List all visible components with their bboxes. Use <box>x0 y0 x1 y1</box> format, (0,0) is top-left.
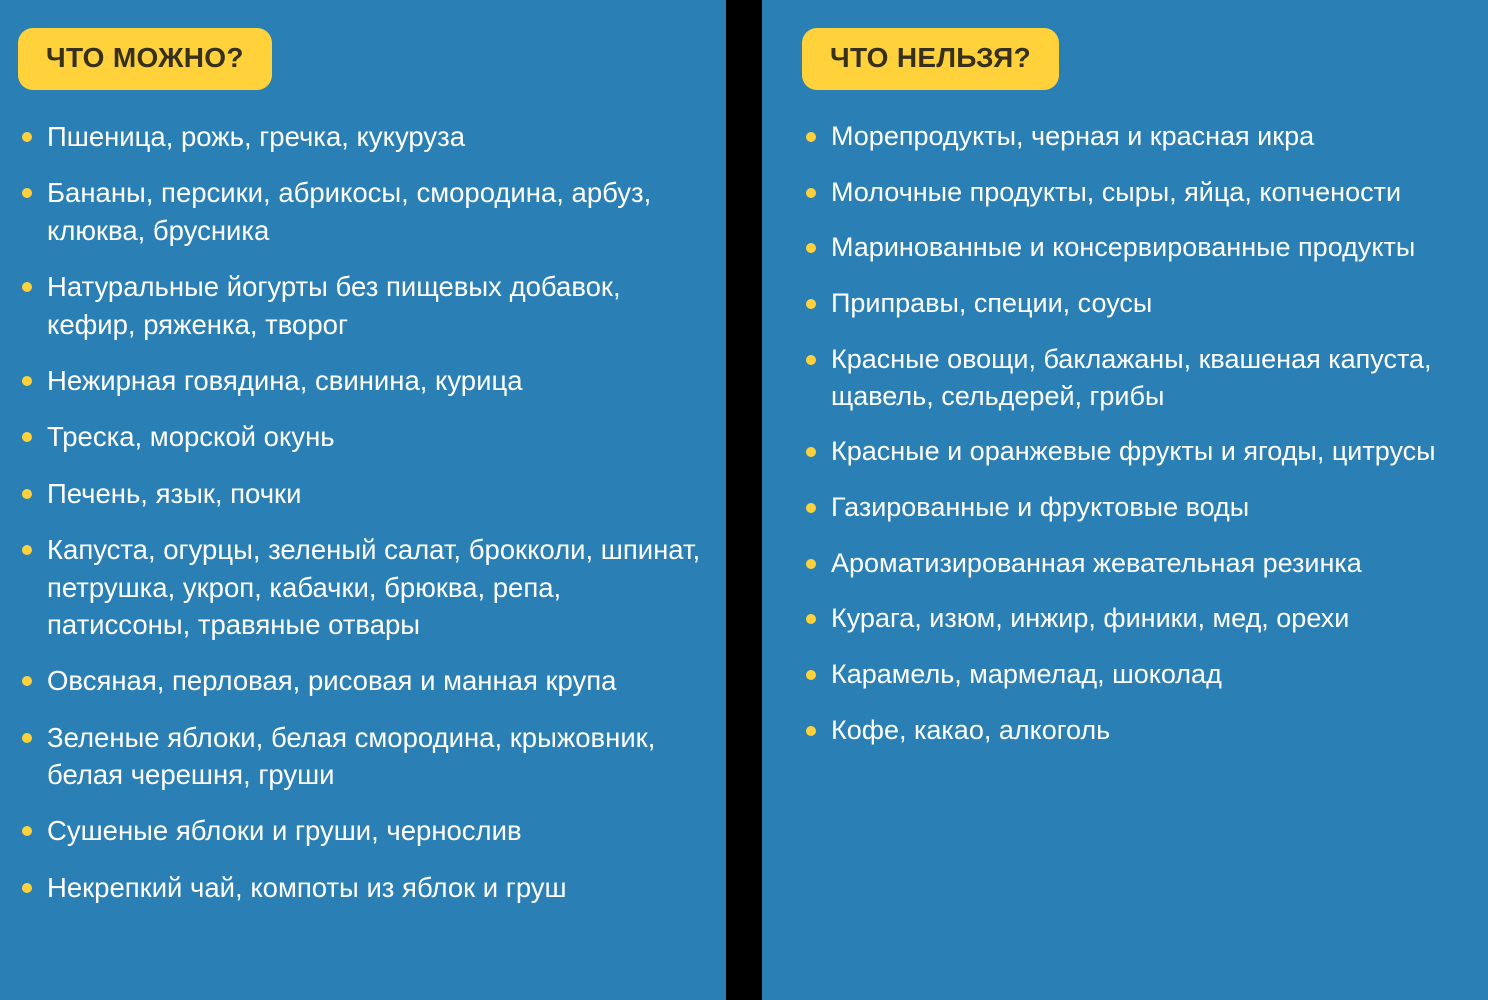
bullet-dot-icon <box>806 559 816 569</box>
forbidden-panel-inner: ЧТО НЕЛЬЗЯ? Морепродукты, черная и красн… <box>762 0 1488 1000</box>
forbidden-foods-panel: ЧТО НЕЛЬЗЯ? Морепродукты, черная и красн… <box>762 0 1488 1000</box>
list-item-label: Морепродукты, черная и красная икра <box>831 118 1470 155</box>
bullet-dot-icon <box>22 432 32 442</box>
list-item: Карамель, мармелад, шоколад <box>802 656 1470 693</box>
bullet-dot-icon <box>22 489 32 499</box>
list-item-label: Кофе, какао, алкоголь <box>831 712 1470 749</box>
list-item: Овсяная, перловая, рисовая и манная круп… <box>18 662 706 699</box>
list-item-label: Курага, изюм, инжир, финики, мед, орехи <box>831 600 1470 637</box>
bullet-dot-icon <box>806 243 816 253</box>
bullet-dot-icon <box>22 733 32 743</box>
list-item-label: Приправы, специи, соусы <box>831 285 1470 322</box>
bullet-dot-icon <box>806 355 816 365</box>
bullet-dot-icon <box>22 282 32 292</box>
list-item-label: Газированные и фруктовые воды <box>831 489 1470 526</box>
list-item: Печень, язык, почки <box>18 475 706 512</box>
list-item: Треска, морской окунь <box>18 418 706 455</box>
bullet-dot-icon <box>806 670 816 680</box>
bullet-dot-icon <box>806 299 816 309</box>
bullet-dot-icon <box>806 188 816 198</box>
list-item-label: Красные овощи, баклажаны, квашеная капус… <box>831 341 1470 414</box>
list-item-label: Зеленые яблоки, белая смородина, крыжовн… <box>47 719 706 794</box>
bullet-dot-icon <box>22 676 32 686</box>
allowed-foods-list: Пшеница, рожь, гречка, кукуруза Бананы, … <box>18 118 708 906</box>
allowed-section-badge: ЧТО МОЖНО? <box>18 28 272 90</box>
list-item: Ароматизированная жевательная резинка <box>802 545 1470 582</box>
bullet-dot-icon <box>22 545 32 555</box>
list-item-label: Нежирная говядина, свинина, курица <box>47 362 706 399</box>
list-item: Курага, изюм, инжир, финики, мед, орехи <box>802 600 1470 637</box>
list-item-label: Красные и оранжевые фрукты и ягоды, цитр… <box>831 433 1470 470</box>
bullet-dot-icon <box>22 826 32 836</box>
bullet-dot-icon <box>22 188 32 198</box>
list-item-label: Ароматизированная жевательная резинка <box>831 545 1470 582</box>
list-item-label: Капуста, огурцы, зеленый салат, брокколи… <box>47 531 706 643</box>
list-item-label: Маринованные и консервированные продукты <box>831 229 1470 266</box>
list-item: Приправы, специи, соусы <box>802 285 1470 322</box>
bullet-dot-icon <box>806 447 816 457</box>
list-item: Нежирная говядина, свинина, курица <box>18 362 706 399</box>
bullet-dot-icon <box>806 726 816 736</box>
list-item-label: Натуральные йогурты без пищевых добавок,… <box>47 268 706 343</box>
forbidden-foods-list: Морепродукты, черная и красная икра Моло… <box>802 118 1470 749</box>
list-item: Молочные продукты, сыры, яйца, копченост… <box>802 174 1470 211</box>
list-item: Натуральные йогурты без пищевых добавок,… <box>18 268 706 343</box>
list-item-label: Сушеные яблоки и груши, чернослив <box>47 812 706 849</box>
list-item-label: Треска, морской окунь <box>47 418 706 455</box>
infographic-root: ЧТО МОЖНО? Пшеница, рожь, гречка, кукуру… <box>0 0 1488 1000</box>
allowed-foods-panel: ЧТО МОЖНО? Пшеница, рожь, гречка, кукуру… <box>0 0 726 1000</box>
list-item: Капуста, огурцы, зеленый салат, брокколи… <box>18 531 706 643</box>
list-item-label: Бананы, персики, абрикосы, смородина, ар… <box>47 174 706 249</box>
list-item-label: Некрепкий чай, компоты из яблок и груш <box>47 869 706 906</box>
bullet-dot-icon <box>22 883 32 893</box>
list-item: Пшеница, рожь, гречка, кукуруза <box>18 118 706 155</box>
list-item-label: Пшеница, рожь, гречка, кукуруза <box>47 118 706 155</box>
list-item-label: Карамель, мармелад, шоколад <box>831 656 1470 693</box>
forbidden-section-badge: ЧТО НЕЛЬЗЯ? <box>802 28 1059 90</box>
list-item-label: Печень, язык, почки <box>47 475 706 512</box>
bullet-dot-icon <box>22 132 32 142</box>
list-item: Газированные и фруктовые воды <box>802 489 1470 526</box>
list-item: Красные и оранжевые фрукты и ягоды, цитр… <box>802 433 1470 470</box>
bullet-dot-icon <box>806 132 816 142</box>
allowed-panel-inner: ЧТО МОЖНО? Пшеница, рожь, гречка, кукуру… <box>0 0 726 1000</box>
list-item-label: Овсяная, перловая, рисовая и манная круп… <box>47 662 706 699</box>
list-item: Маринованные и консервированные продукты <box>802 229 1470 266</box>
panel-divider <box>726 0 762 1000</box>
list-item: Кофе, какао, алкоголь <box>802 712 1470 749</box>
bullet-dot-icon <box>806 503 816 513</box>
bullet-dot-icon <box>806 614 816 624</box>
list-item-label: Молочные продукты, сыры, яйца, копченост… <box>831 174 1470 211</box>
list-item: Зеленые яблоки, белая смородина, крыжовн… <box>18 719 706 794</box>
bullet-dot-icon <box>22 376 32 386</box>
list-item: Морепродукты, черная и красная икра <box>802 118 1470 155</box>
list-item: Некрепкий чай, компоты из яблок и груш <box>18 869 706 906</box>
list-item: Бананы, персики, абрикосы, смородина, ар… <box>18 174 706 249</box>
list-item: Красные овощи, баклажаны, квашеная капус… <box>802 341 1470 414</box>
list-item: Сушеные яблоки и груши, чернослив <box>18 812 706 849</box>
